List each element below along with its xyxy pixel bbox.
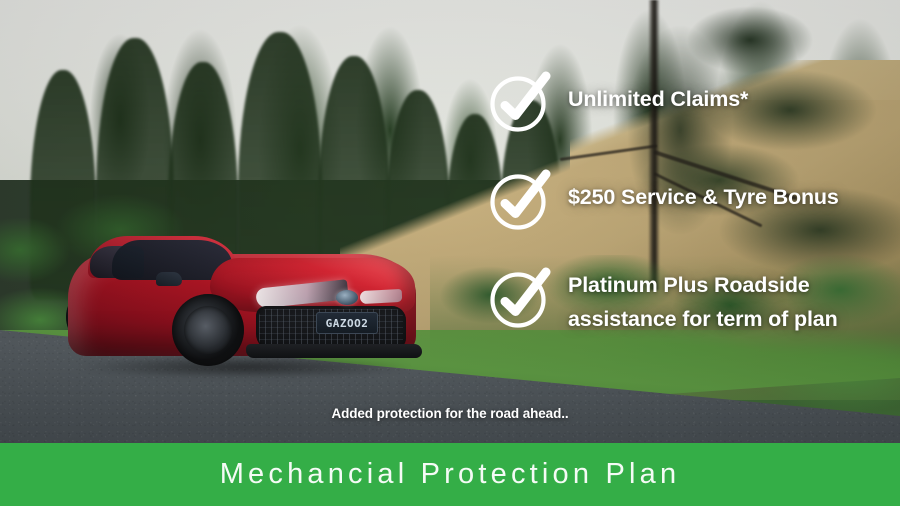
check-circle-icon	[488, 68, 554, 134]
feature-item-roadside-assistance: Platinum Plus Roadside assistance for te…	[488, 262, 888, 336]
product-title: Mechancial Protection Plan	[220, 458, 681, 491]
feature-label: Platinum Plus Roadside assistance for te…	[568, 262, 888, 336]
check-circle-icon	[488, 264, 554, 330]
license-plate: GAZOO2	[316, 312, 378, 334]
mechanical-protection-plan-advert: GAZOO2 Unlimited Claims*	[0, 0, 900, 506]
footer-banner: Mechancial Protection Plan	[0, 443, 900, 506]
brand-emblem-icon	[336, 290, 358, 305]
car-shadow	[80, 356, 410, 378]
headlight-right	[360, 289, 403, 304]
feature-item-unlimited-claims: Unlimited Claims*	[488, 66, 888, 134]
front-splitter	[246, 344, 422, 358]
feature-list: Unlimited Claims* $250 Service & Tyre Bo…	[488, 66, 888, 336]
license-plate-text: GAZOO2	[326, 317, 369, 330]
feature-item-service-bonus: $250 Service & Tyre Bonus	[488, 164, 888, 232]
feature-label: Unlimited Claims*	[568, 66, 748, 116]
feature-label: $250 Service & Tyre Bonus	[568, 164, 839, 214]
check-circle-icon	[488, 166, 554, 232]
red-sports-car: GAZOO2	[60, 228, 430, 378]
front-wheel	[172, 294, 244, 366]
front-rim	[184, 306, 232, 354]
tagline: Added protection for the road ahead..	[0, 406, 900, 421]
wing-mirror	[156, 272, 182, 286]
